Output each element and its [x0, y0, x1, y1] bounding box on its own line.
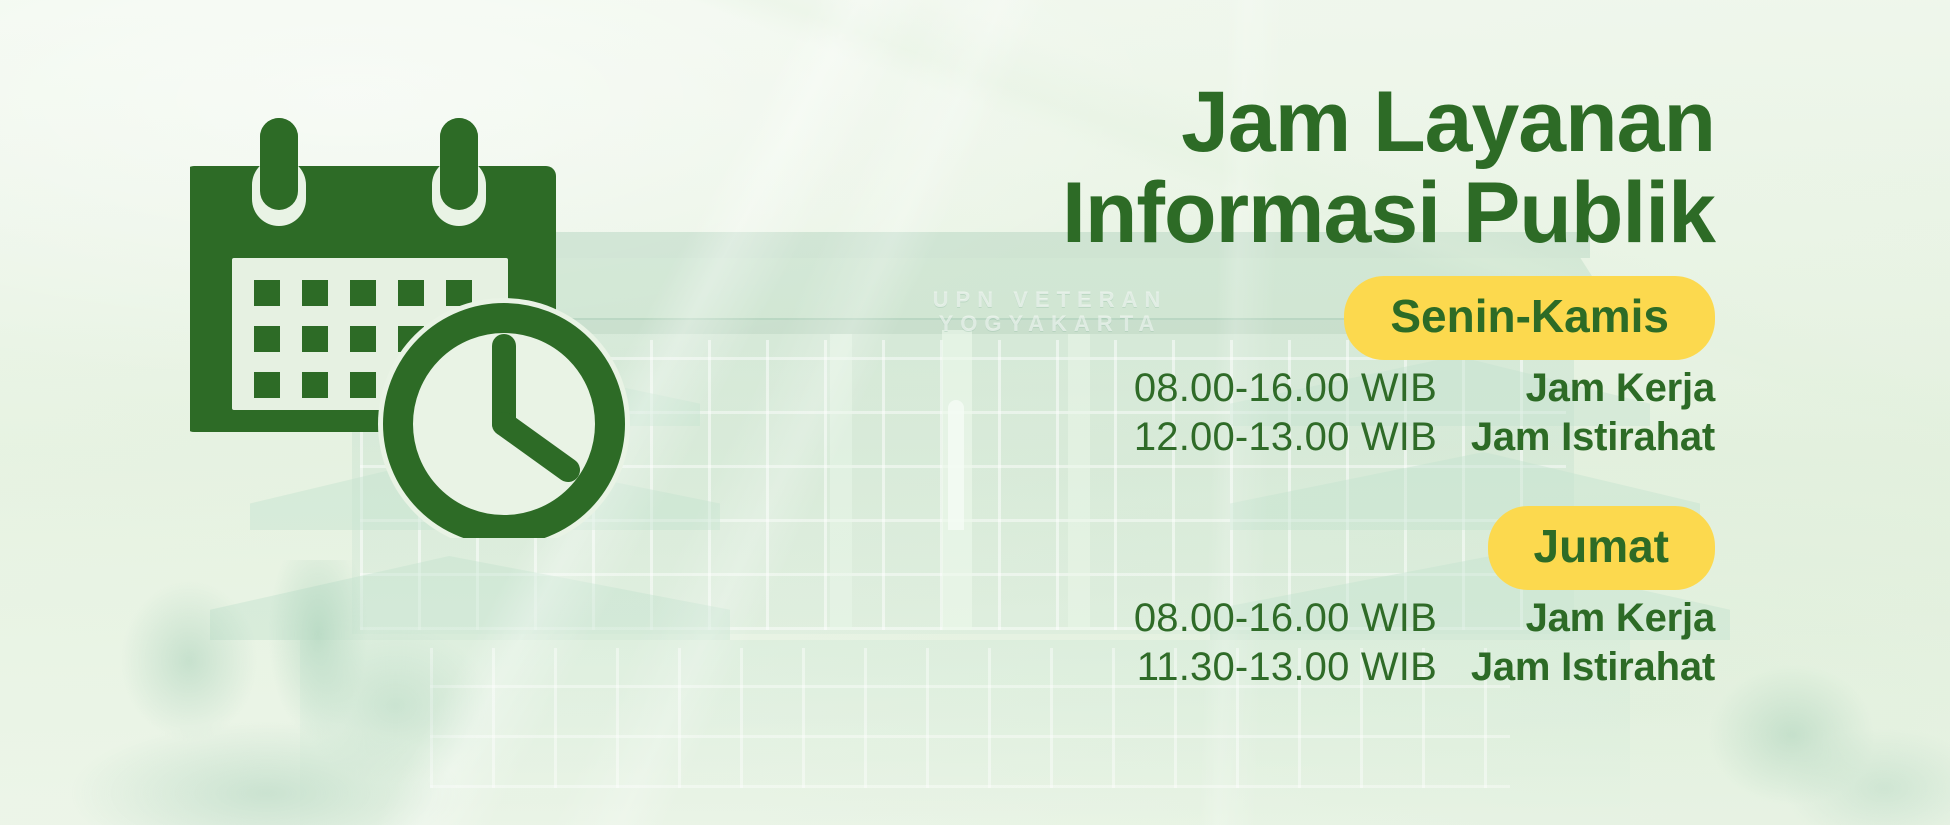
schedule-row: 12.00-13.00 WIB Jam Istirahat — [715, 415, 1715, 460]
calendar-day-cell — [254, 280, 280, 306]
page-title: Jam Layanan Informasi Publik — [715, 80, 1715, 256]
calendar-day-cell — [254, 372, 280, 398]
schedule-time: 11.30-13.00 WIB — [1007, 645, 1455, 690]
banner-content: Jam Layanan Informasi Publik Senin-Kamis… — [715, 80, 1715, 690]
schedule-label: Jam Kerja — [1455, 366, 1715, 411]
schedule-rows-weekday: 08.00-16.00 WIB Jam Kerja 12.00-13.00 WI… — [715, 366, 1715, 460]
calendar-day-cell — [254, 326, 280, 352]
public-information-service-hours-banner: UPN VETERAN YOGYAKARTA — [0, 0, 1950, 825]
schedule-group-weekday: Senin-Kamis 08.00-16.00 WIB Jam Kerja 12… — [715, 276, 1715, 460]
calendar-ring-left-top — [260, 118, 298, 210]
schedule-label: Jam Istirahat — [1455, 415, 1715, 460]
day-badge-row: Senin-Kamis — [715, 276, 1715, 360]
calendar-day-cell — [350, 326, 376, 352]
calendar-clock-svg — [190, 118, 650, 538]
schedule-group-friday: Jumat 08.00-16.00 WIB Jam Kerja 11.30-13… — [715, 506, 1715, 690]
schedule-time: 08.00-16.00 WIB — [1007, 366, 1455, 411]
calendar-ring-right-top — [440, 118, 478, 210]
calendar-day-cell — [446, 280, 472, 306]
calendar-day-cell — [302, 326, 328, 352]
status-badge-senin-kamis: Senin-Kamis — [1344, 276, 1715, 360]
calendar-clock-illustration — [190, 118, 650, 538]
title-line-2: Informasi Publik — [715, 171, 1715, 256]
calendar-day-cell — [302, 280, 328, 306]
status-badge-jumat: Jumat — [1488, 506, 1715, 590]
schedule-row: 08.00-16.00 WIB Jam Kerja — [715, 596, 1715, 641]
schedule-time: 08.00-16.00 WIB — [1007, 596, 1455, 641]
schedule-row: 11.30-13.00 WIB Jam Istirahat — [715, 645, 1715, 690]
calendar-day-cell — [398, 280, 424, 306]
schedule-row: 08.00-16.00 WIB Jam Kerja — [715, 366, 1715, 411]
title-line-1: Jam Layanan — [1181, 74, 1715, 170]
schedule-time: 12.00-13.00 WIB — [1007, 415, 1455, 460]
calendar-day-cell — [350, 372, 376, 398]
schedule-label: Jam Kerja — [1455, 596, 1715, 641]
building-wing-left-3 — [210, 556, 730, 640]
schedule-label: Jam Istirahat — [1455, 645, 1715, 690]
day-badge-row: Jumat — [715, 506, 1715, 590]
calendar-day-cell — [302, 372, 328, 398]
calendar-day-cell — [350, 280, 376, 306]
schedule-rows-friday: 08.00-16.00 WIB Jam Kerja 11.30-13.00 WI… — [715, 596, 1715, 690]
tree-cluster-left — [60, 560, 490, 825]
